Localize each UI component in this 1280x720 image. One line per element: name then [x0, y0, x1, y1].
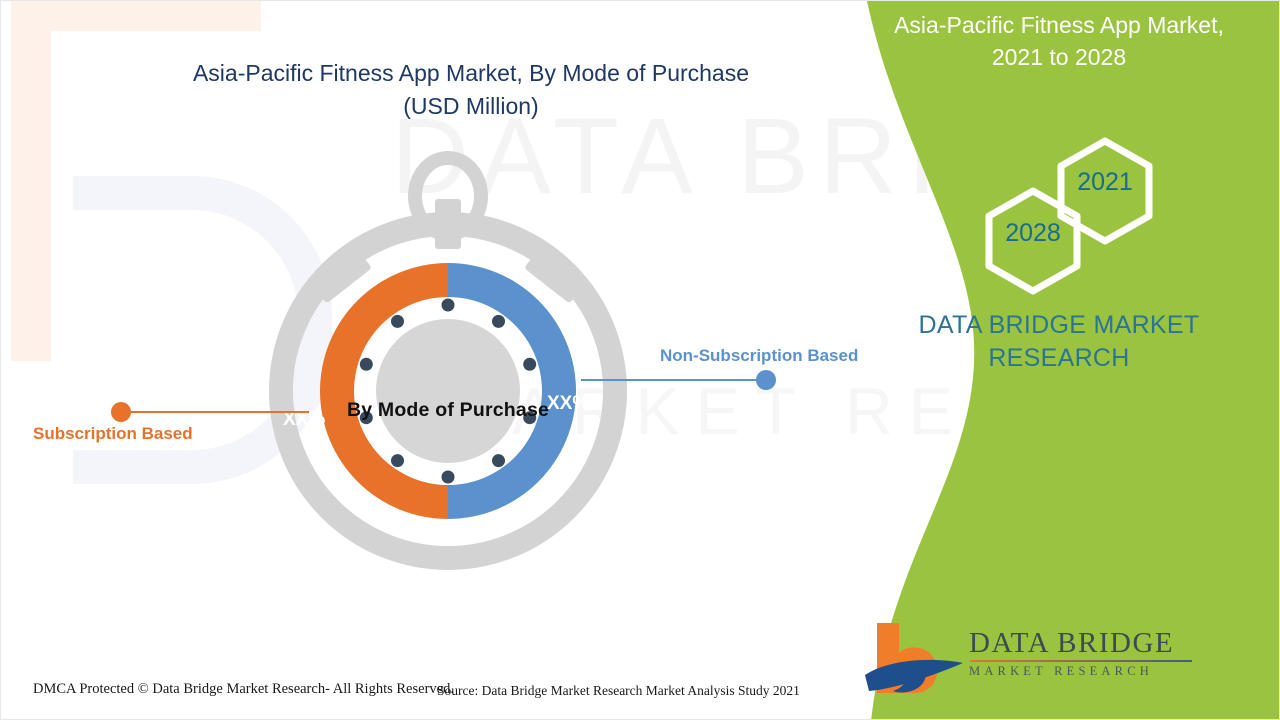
- panel-brand-name: DATA BRIDGE MARKET RESEARCH: [869, 309, 1249, 375]
- hexagon-label-2021: 2021: [1045, 168, 1165, 197]
- logo-subtitle: MARKET RESEARCH: [969, 664, 1219, 679]
- panel-title-line-2: 2021 to 2028: [871, 41, 1247, 73]
- donut-hub: [376, 319, 520, 463]
- chart-title-line-2: (USD Million): [121, 90, 821, 123]
- logo-text-block: DATA BRIDGE MARKET RESEARCH: [969, 627, 1219, 679]
- panel-title-line-1: Asia-Pacific Fitness App Market,: [871, 9, 1247, 41]
- panel-brand-line-2: RESEARCH: [869, 342, 1249, 375]
- footer-dmca-text: DMCA Protected © Data Bridge Market Rese…: [33, 681, 454, 698]
- watermark-logo-b-orange: [11, 0, 261, 361]
- footer-bar: DMCA Protected © Data Bridge Market Rese…: [1, 673, 857, 719]
- legend-dot-right: [756, 370, 776, 390]
- donut-chart: By Mode of Purchase: [253, 141, 643, 601]
- green-side-panel: Asia-Pacific Fitness App Market, 2021 to…: [839, 1, 1279, 720]
- panel-title: Asia-Pacific Fitness App Market, 2021 to…: [871, 9, 1247, 73]
- footer-source-text: Source: Data Bridge Market Research Mark…: [437, 683, 800, 699]
- legend-dot-left: [111, 402, 131, 422]
- chart-title-line-1: Asia-Pacific Fitness App Market, By Mode…: [121, 57, 821, 90]
- donut-chart-svg: [253, 141, 643, 601]
- logo-title: DATA BRIDGE: [969, 627, 1219, 659]
- logo-mark-icon: [859, 619, 969, 699]
- logo-divider: [970, 660, 1192, 662]
- panel-brand-line-1: DATA BRIDGE MARKET: [869, 309, 1249, 342]
- infographic-canvas: DATA BRIDGE MARKET RESEARCH Asia-Pacific…: [0, 0, 1280, 720]
- hexagon-label-2028: 2028: [973, 219, 1093, 248]
- legend-label-subscription: Subscription Based: [33, 424, 193, 444]
- legend-leader-line-left: [129, 411, 309, 413]
- donut-percent-label-non-subscription: XX%: [547, 393, 589, 415]
- legend-label-non-subscription: Non-Subscription Based: [660, 346, 858, 366]
- chart-title: Asia-Pacific Fitness App Market, By Mode…: [121, 57, 821, 123]
- company-logo: DATA BRIDGE MARKET RESEARCH: [859, 619, 1239, 699]
- legend-leader-line-right: [581, 379, 761, 381]
